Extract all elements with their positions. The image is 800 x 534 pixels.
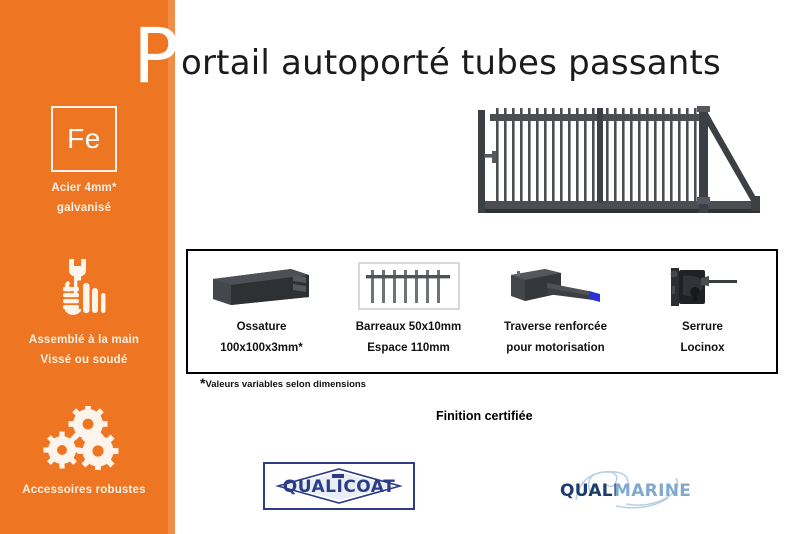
fe-square-icon: Fe [51,106,117,172]
qualicoat-logo: QUALICOAT [263,462,415,510]
steel-frame-profile-icon [209,260,315,312]
feature-label: Ossature [237,320,287,334]
footnote-text: Valeurs variables selon dimensions [205,379,366,390]
title-dropcap: P [133,18,179,94]
feature-item-motorization: Traverse renforcée pour motorisation [482,251,629,372]
sidebar-item-material: Fe Acier 4mm* galvanisé [0,106,168,214]
feature-sublabel: Espace 110mm [367,341,449,355]
feature-label: Serrure [682,320,723,334]
lock-icon [657,260,749,312]
svg-text:QUALI: QUALI [560,481,620,501]
feature-item-bars: Barreaux 50x10mm Espace 110mm [335,251,482,372]
feature-item-lock: Serrure Locinox [629,251,776,372]
qualimarine-logo: QUALI MARINE [556,466,708,510]
feature-item-frame: Ossature 100x100x3mm* [188,251,335,372]
features-panel: Ossature 100x100x3mm* [186,249,778,374]
feature-sublabel: 100x100x3mm* [220,341,303,355]
svg-text:MARINE: MARINE [614,481,691,501]
feature-sublabel: pour motorisation [506,341,604,355]
hand-wrench-icon [0,252,168,324]
sidebar-item-accessories: Accessoires robustes [0,402,168,496]
svg-text:QUALICOAT: QUALICOAT [283,477,395,497]
page-title: P ortail autoporté tubes passants [133,22,793,92]
feature-label: Traverse renforcée [504,320,607,334]
gears-icon [0,402,168,474]
fe-symbol-label: Fe [67,125,101,153]
sidebar-item-sublabel: Vissé ou soudé [0,354,168,366]
certification-heading: Finition certifiée [436,409,533,423]
sidebar-item-label: Accessoires robustes [0,484,168,496]
title-rest: ortail autoporté tubes passants [181,46,721,80]
feature-label: Barreaux 50x10mm [356,320,462,334]
motorization-beam-icon [501,260,611,312]
feature-sublabel: Locinox [680,341,724,355]
cantilever-sliding-gate-icon [470,96,770,224]
product-sheet: Fe Acier 4mm* galvanisé [0,0,800,534]
fence-bars-icon [358,260,460,312]
footnote: *Valeurs variables selon dimensions [200,379,366,390]
sidebar-item-assembly: Assemblé à la main Vissé ou soudé [0,252,168,366]
sidebar-item-sublabel: galvanisé [0,202,168,214]
sidebar-item-label: Assemblé à la main [0,334,168,346]
sidebar-item-label: Acier 4mm* [0,182,168,194]
